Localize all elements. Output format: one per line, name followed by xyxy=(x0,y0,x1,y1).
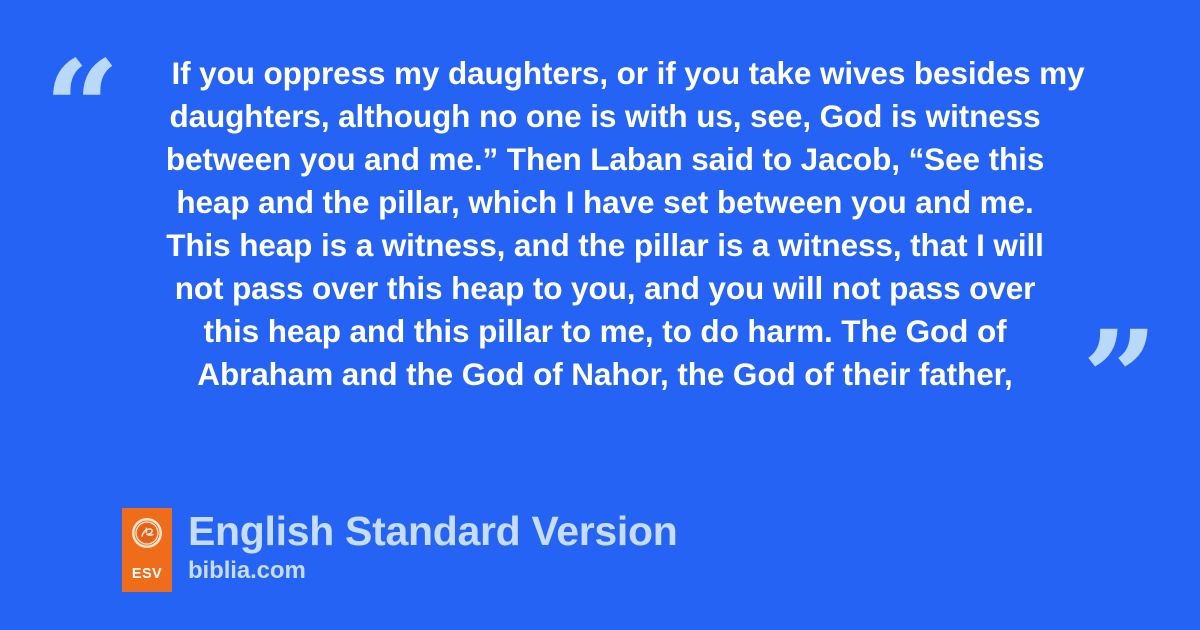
esv-logo-abbreviation: ESV xyxy=(122,567,172,582)
verse-line: this heap and this pillar to me, to do h… xyxy=(110,310,1100,353)
verse-line: If you oppress my daughters, or if you t… xyxy=(110,52,1100,95)
verse-line: daughters, although no one is with us, s… xyxy=(110,95,1100,138)
quote-block: “ If you oppress my daughters, or if you… xyxy=(0,52,1200,422)
verse-line: not pass over this heap to you, and you … xyxy=(110,267,1100,310)
verse-line: Abraham and the God of Nahor, the God of… xyxy=(110,353,1100,396)
esv-seal-icon xyxy=(131,517,163,549)
site-name: biblia.com xyxy=(188,557,677,585)
attribution-text: English Standard Version biblia.com xyxy=(188,508,677,585)
verse-text: If you oppress my daughters, or if you t… xyxy=(110,52,1100,396)
verse-line: heap and the pillar, which I have set be… xyxy=(110,181,1100,224)
bible-version-name: English Standard Version xyxy=(188,508,677,555)
verse-share-card: “ If you oppress my daughters, or if you… xyxy=(0,0,1200,630)
esv-logo: ESV xyxy=(122,508,172,592)
verse-line: between you and me.” Then Laban said to … xyxy=(110,138,1100,181)
verse-line: This heap is a witness, and the pillar i… xyxy=(110,224,1100,267)
attribution: ESV English Standard Version biblia.com xyxy=(122,508,677,592)
open-quote-icon: “ xyxy=(44,44,118,176)
